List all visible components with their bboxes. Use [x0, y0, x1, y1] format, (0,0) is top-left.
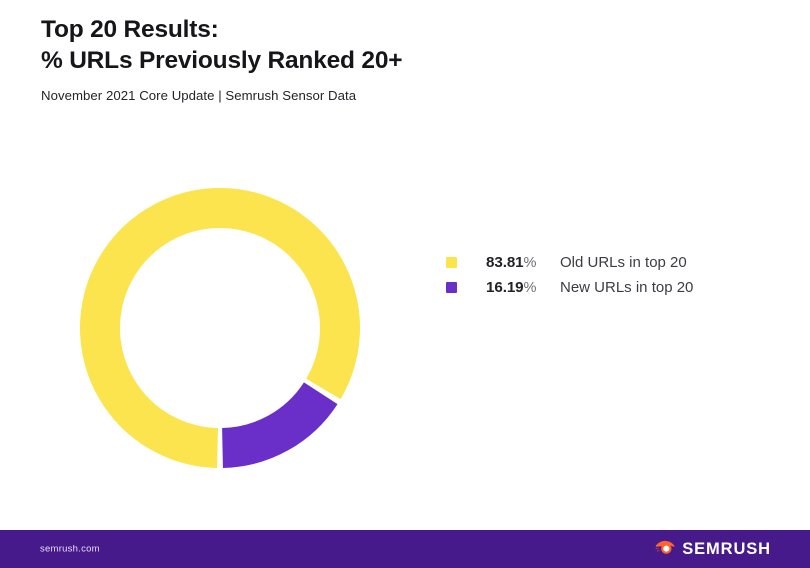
semrush-wordmark: SEMRUSH	[682, 541, 771, 557]
legend-swatch-old-urls	[446, 257, 457, 268]
subtitle: November 2021 Core Update | Semrush Sens…	[41, 87, 681, 105]
donut-chart	[72, 180, 368, 476]
legend-percent-old-urls: %	[524, 255, 537, 271]
page-title: Top 20 Results: % URLs Previously Ranked…	[41, 14, 681, 105]
legend-value-old-urls: 83.81%	[486, 254, 560, 271]
legend-label-old-urls: Old URLs in top 20	[560, 254, 687, 271]
legend-item-old-urls[interactable]: 83.81% Old URLs in top 20	[446, 250, 766, 275]
donut-slice-new-urls[interactable]	[223, 393, 321, 448]
legend-number-new-urls: 16.19	[486, 279, 524, 296]
semrush-comet-icon	[655, 539, 675, 559]
footer-bar: semrush.com SEMRUSH	[0, 530, 810, 568]
legend-value-new-urls: 16.19%	[486, 279, 560, 296]
footer-website-url[interactable]: semrush.com	[40, 544, 100, 555]
legend-label-new-urls: New URLs in top 20	[560, 279, 693, 296]
donut-slice-group	[100, 208, 340, 448]
title-line-1: Top 20 Results:	[41, 14, 681, 45]
slide-canvas: Top 20 Results: % URLs Previously Ranked…	[0, 0, 810, 568]
chart-legend: 83.81% Old URLs in top 20 16.19% New URL…	[446, 250, 766, 300]
title-line-2: % URLs Previously Ranked 20+	[41, 45, 681, 76]
legend-swatch-new-urls	[446, 282, 457, 293]
legend-percent-new-urls: %	[524, 280, 537, 296]
donut-chart-svg	[72, 180, 368, 476]
legend-number-old-urls: 83.81	[486, 254, 524, 271]
legend-item-new-urls[interactable]: 16.19% New URLs in top 20	[446, 275, 766, 300]
semrush-logo[interactable]: SEMRUSH	[655, 539, 771, 559]
